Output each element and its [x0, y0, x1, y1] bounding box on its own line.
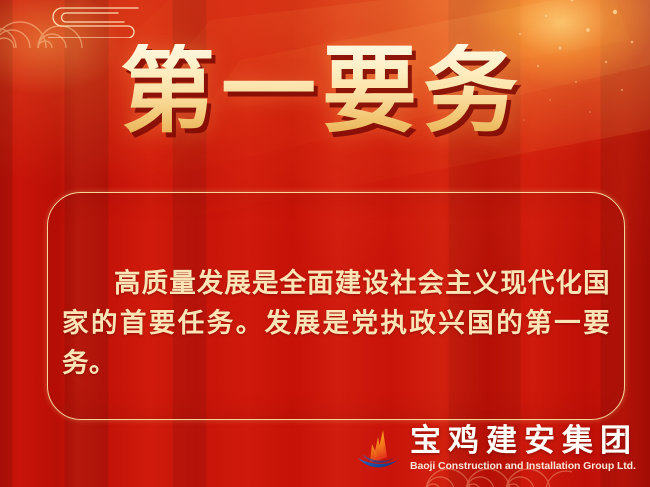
brand-logo-text: 宝鸡建安集团 Baoji Construction and Installati… — [410, 425, 638, 472]
brand-name-en: Baoji Construction and Installation Grou… — [410, 461, 638, 472]
page-title: 第一要务 — [120, 44, 530, 139]
body-text: 高质量发展是全面建设社会主义现代化国家的首要任务。发展是党执政兴国的第一要务。 — [62, 263, 610, 383]
sail-bird-logo-icon — [356, 427, 402, 473]
brand-logo: 宝鸡建安集团 Baoji Construction and Installati… — [356, 425, 638, 473]
poster-canvas: 第一要务 高质量发展是全面建设社会主义现代化国家的首要任务。发展是党执政兴国的第… — [0, 0, 650, 487]
brand-name-cn: 宝鸡建安集团 — [410, 425, 638, 456]
rounded-line-ribbon-icon — [48, 4, 140, 38]
title-container: 第一要务 — [0, 44, 650, 139]
